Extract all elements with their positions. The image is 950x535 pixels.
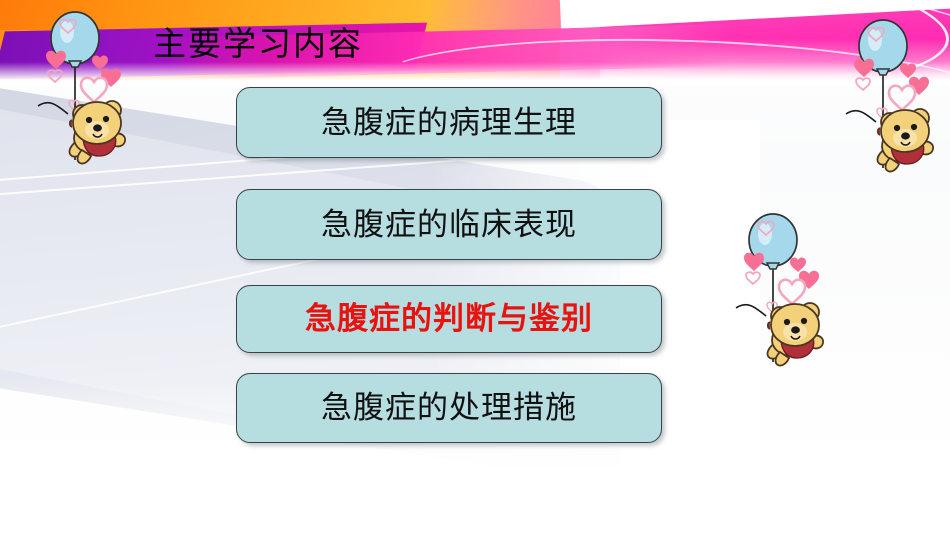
pooh-bear-with-balloon-left: [28, 10, 148, 175]
content-box-1-label: 急腹症的病理生理: [321, 106, 577, 140]
content-box-3-highlighted[interactable]: 急腹症的判断与鉴别: [236, 285, 662, 353]
content-box-2-label: 急腹症的临床表现: [321, 208, 577, 242]
slide-canvas: 主要学习内容 急腹症的病理生理 急腹症的临床表现 急腹症的判断与鉴别 急腹症的处…: [0, 0, 950, 535]
content-box-4[interactable]: 急腹症的处理措施: [236, 373, 662, 443]
pooh-bear-with-balloon-mid-right: [726, 212, 846, 377]
pooh-bear-with-balloon-top-right: [836, 18, 950, 183]
content-box-3-label: 急腹症的判断与鉴别: [305, 302, 593, 336]
content-box-4-label: 急腹症的处理措施: [321, 391, 577, 425]
content-box-2[interactable]: 急腹症的临床表现: [236, 189, 662, 260]
content-box-list: 急腹症的病理生理 急腹症的临床表现 急腹症的判断与鉴别 急腹症的处理措施: [236, 87, 662, 443]
slide-title: 主要学习内容: [153, 26, 363, 64]
content-box-1[interactable]: 急腹症的病理生理: [236, 87, 662, 158]
